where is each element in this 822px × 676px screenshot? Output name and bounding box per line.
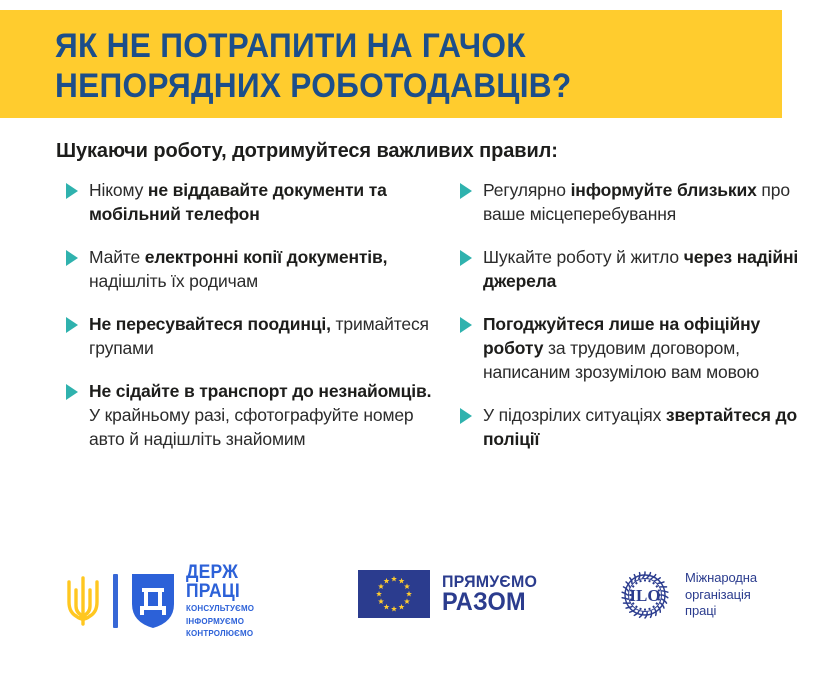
header-banner: ЯК НЕ ПОТРАПИТИ НА ГАЧОК НЕПОРЯДНИХ РОБО… — [0, 10, 782, 118]
left-column: Нікому не віддавайте документи та мобіль… — [0, 178, 446, 470]
logo-ilo: ILO Міжнародна організація праці — [616, 566, 757, 624]
ilo-line2: організація — [685, 587, 757, 604]
advice-item: У підозрілих ситуаціях звертайтеся до по… — [460, 403, 802, 451]
triangle-right-icon — [460, 183, 472, 199]
advice-item: Погоджуйтеся лише на офіційну роботу за … — [460, 312, 802, 384]
eu-wordmark: ПРЯМУЄМО РАЗОМ — [442, 573, 543, 615]
eu-line2: РАЗОМ — [442, 590, 537, 615]
triangle-right-icon — [66, 250, 78, 266]
advice-item-text: У підозрілих ситуаціях звертайтеся до по… — [483, 403, 802, 451]
advice-item-text: Не пересувайтеся поодинці, тримайтеся гр… — [89, 312, 436, 360]
ilo-line1: Міжнародна — [685, 570, 757, 587]
derzhpratsi-wordmark: ДЕРЖ ПРАЦІ КОНСУЛЬТУЄМО ІНФОРМУЄМО КОНТР… — [186, 564, 258, 639]
advice-item: Не сідайте в транспорт до незнайомців. У… — [66, 379, 436, 451]
ilo-monogram: ILO — [629, 586, 660, 605]
logo-divider — [113, 574, 118, 628]
triangle-right-icon — [66, 317, 78, 333]
advice-item: Шукайте роботу й житло через надійні дже… — [460, 245, 802, 293]
derzhpratsi-tagline-line1: КОНСУЛЬТУЄМО — [186, 604, 254, 614]
advice-item-text: Майте електронні копії документів, надіш… — [89, 245, 436, 293]
advice-item-text: Не сідайте в транспорт до незнайомців. У… — [89, 379, 436, 451]
ilo-line3: праці — [685, 603, 757, 620]
page-title: ЯК НЕ ПОТРАПИТИ НА ГАЧОК НЕПОРЯДНИХ РОБО… — [55, 26, 706, 106]
advice-item: Не пересувайтеся поодинці, тримайтеся гр… — [66, 312, 436, 360]
advice-item-text: Погоджуйтеся лише на офіційну роботу за … — [483, 312, 802, 384]
advice-item: Нікому не віддавайте документи та мобіль… — [66, 178, 436, 226]
subtitle: Шукаючи роботу, дотримуйтеся важливих пр… — [56, 140, 558, 163]
right-column: Регулярно інформуйте близьких про ваше м… — [446, 178, 822, 470]
triangle-right-icon — [460, 408, 472, 424]
advice-item: Майте електронні копії документів, надіш… — [66, 245, 436, 293]
ilo-wordmark: Міжнародна організація праці — [685, 570, 757, 620]
ilo-wreath-icon: ILO — [616, 566, 674, 624]
logo-derzhpratsi: ДЕРЖ ПРАЦІ КОНСУЛЬТУЄМО ІНФОРМУЄМО КОНТР… — [62, 564, 258, 639]
advice-item-text: Регулярно інформуйте близьких про ваше м… — [483, 178, 802, 226]
derzhpratsi-tagline-line3: КОНТРОЛЮЄМО — [186, 629, 254, 639]
derzhpratsi-name-line2: ПРАЦІ — [186, 583, 252, 602]
derzhpratsi-shield-icon — [130, 572, 176, 630]
triangle-right-icon — [66, 384, 78, 400]
triangle-right-icon — [460, 317, 472, 333]
ukraine-trident-icon — [62, 572, 104, 630]
derzhpratsi-tagline-line2: ІНФОРМУЄМО — [186, 617, 254, 627]
logo-eu: ПРЯМУЄМО РАЗОМ — [358, 570, 543, 618]
eu-flag-icon — [358, 570, 430, 618]
advice-item-text: Шукайте роботу й житло через надійні дже… — [483, 245, 802, 293]
advice-item: Регулярно інформуйте близьких про ваше м… — [460, 178, 802, 226]
advice-columns: Нікому не віддавайте документи та мобіль… — [0, 178, 822, 470]
advice-item-text: Нікому не віддавайте документи та мобіль… — [89, 178, 436, 226]
footer-logos: ДЕРЖ ПРАЦІ КОНСУЛЬТУЄМО ІНФОРМУЄМО КОНТР… — [0, 552, 822, 662]
triangle-right-icon — [66, 183, 78, 199]
triangle-right-icon — [460, 250, 472, 266]
